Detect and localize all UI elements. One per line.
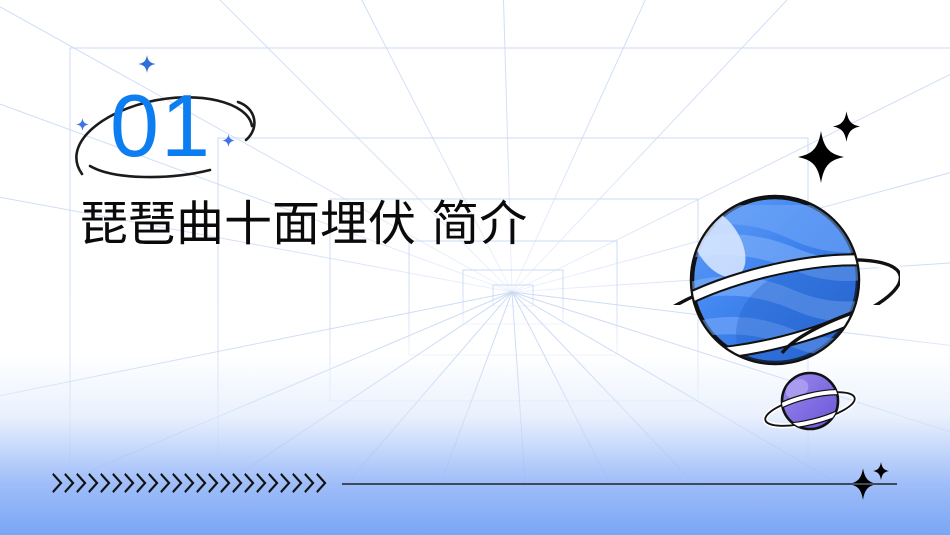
chevron-right-icon	[172, 472, 184, 494]
purple-ringed-planet	[755, 365, 865, 445]
sparkle-black-icon	[873, 462, 889, 480]
chevron-right-icon	[292, 472, 304, 494]
chevron-right-icon	[232, 472, 244, 494]
chevron-right-icon	[76, 472, 88, 494]
page-title: 琵琶曲十面埋伏 简介	[80, 192, 550, 256]
section-number: 01	[110, 78, 212, 174]
chevron-row	[52, 470, 328, 496]
chevron-right-icon	[256, 472, 268, 494]
chevron-right-icon	[304, 472, 316, 494]
chevron-right-icon	[112, 472, 124, 494]
slide-canvas: 01 琵琶曲十面埋伏 简介	[0, 0, 950, 535]
chevron-right-icon	[184, 472, 196, 494]
sparkle-blue-icon	[222, 134, 235, 147]
chevron-right-icon	[316, 472, 328, 494]
sparkle-blue-icon	[138, 55, 156, 73]
chevron-right-icon	[88, 472, 100, 494]
chevron-right-icon	[124, 472, 136, 494]
chevron-right-icon	[160, 472, 172, 494]
chevron-right-icon	[220, 472, 232, 494]
chevron-right-icon	[208, 472, 220, 494]
chevron-right-icon	[136, 472, 148, 494]
chevron-right-icon	[52, 472, 64, 494]
chevron-right-icon	[280, 472, 292, 494]
sparkle-blue-icon	[76, 118, 89, 131]
chevron-right-icon	[268, 472, 280, 494]
footer-arrow-rule	[52, 470, 862, 496]
sparkle-black-icon	[833, 111, 860, 142]
chevron-right-icon	[64, 472, 76, 494]
chevron-right-icon	[100, 472, 112, 494]
footer-line	[342, 483, 897, 485]
chevron-right-icon	[148, 472, 160, 494]
chevron-right-icon	[196, 472, 208, 494]
chevron-right-icon	[244, 472, 256, 494]
section-number-block: 01	[80, 78, 340, 186]
blue-ringed-planet	[640, 185, 900, 385]
